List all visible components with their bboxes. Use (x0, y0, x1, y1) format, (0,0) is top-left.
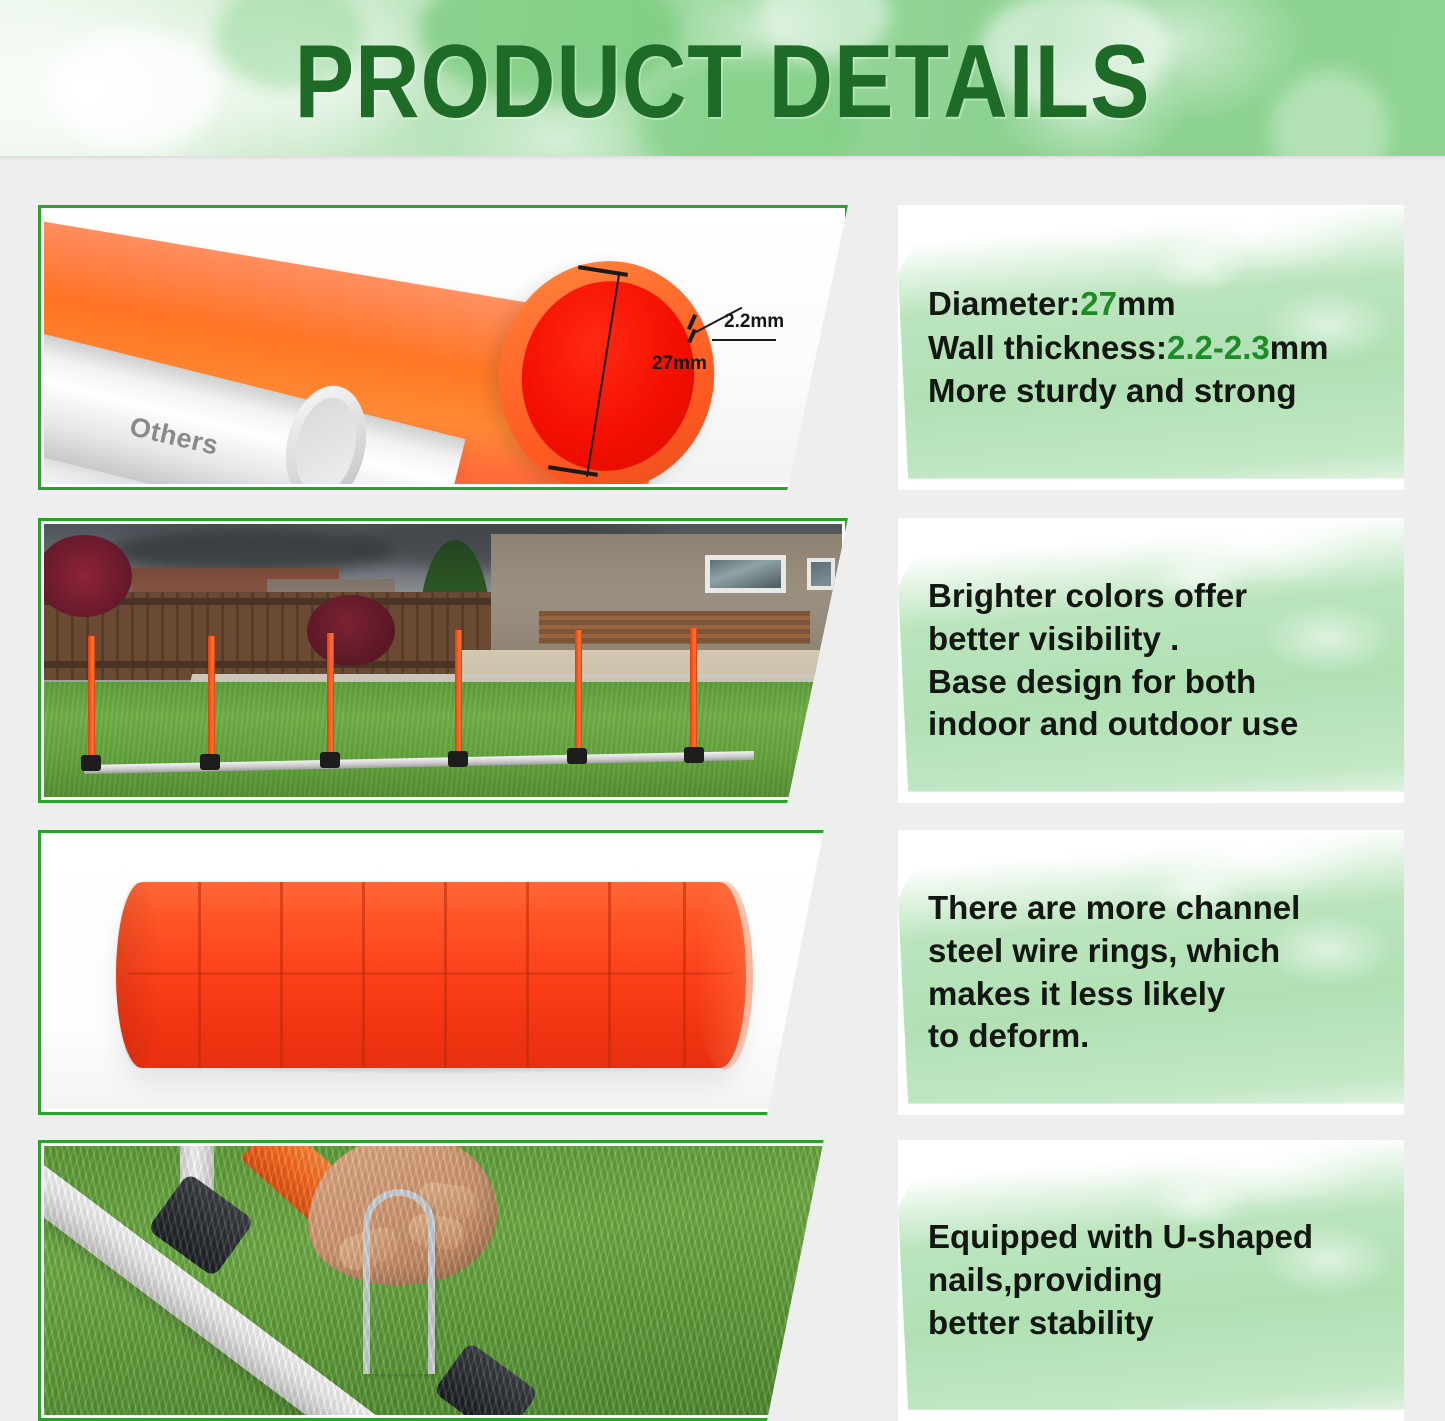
thumb (334, 1223, 403, 1274)
pole-foot (567, 748, 587, 764)
text-segment-highlight: 27 (1080, 285, 1117, 322)
pole-foot (200, 754, 220, 770)
detail-text-body: Equipped with U-shaped nails,providing b… (928, 1140, 1386, 1421)
diameter-value-label: 27mm (652, 353, 707, 375)
text-segment: mm (1117, 285, 1176, 322)
agility-pole (690, 628, 697, 751)
fence-rail (44, 661, 491, 668)
tunnel-rib (280, 882, 283, 1068)
tunnel-rib (444, 882, 447, 1068)
detail-text-card-visibility: Brighter colors offer better visibility … (898, 518, 1404, 803)
detail-text-body: Brighter colors offer better visibility … (928, 518, 1386, 803)
u-shaped-nail (363, 1189, 435, 1374)
u-shaped-nail-photo (38, 1140, 848, 1421)
header-divider (0, 156, 1445, 160)
detail-text-line: makes it less likely (928, 973, 1386, 1016)
detail-row-tunnel: There are more channel steel wire rings,… (0, 830, 1445, 1115)
tunnel-rib (526, 882, 529, 1068)
pipe-connector (147, 1173, 254, 1278)
agility-pole (88, 636, 95, 767)
detail-text-body: There are more channel steel wire rings,… (928, 830, 1386, 1115)
text-segment-highlight: 2.2-2.3 (1167, 329, 1270, 366)
vertical-pipe (180, 1146, 214, 1250)
agility-pole (208, 636, 215, 764)
page-header: PRODUCT DETAILS (0, 0, 1445, 156)
detail-text-line: nails,providing (928, 1259, 1386, 1302)
detail-text-line: Wall thickness:2.2-2.3mm (928, 326, 1386, 370)
detail-text-line: steel wire rings, which (928, 930, 1386, 973)
hand (300, 1146, 505, 1295)
orange-agility-tunnel-photo (38, 830, 848, 1115)
pole-foot (448, 751, 468, 767)
base-rail (44, 1146, 484, 1415)
detail-row-diameter: Others 27mm 2.2mm Diameter:27mm Wal (0, 205, 1445, 490)
tunnel-seam (128, 972, 733, 975)
wall-leader-underline (712, 339, 776, 341)
tunnel-rib (683, 882, 686, 1068)
detail-text-line: to deform. (928, 1015, 1386, 1058)
house-window (705, 555, 786, 593)
tunnel-rib (608, 882, 611, 1068)
detail-row-visibility: Brighter colors offer better visibility … (0, 518, 1445, 803)
pipe-comparison-photo: Others 27mm 2.2mm (38, 205, 848, 490)
agility-pole (327, 633, 334, 761)
agility-pole (575, 630, 582, 753)
agility-pole (455, 630, 462, 761)
text-segment: Diameter: (928, 285, 1080, 322)
tunnel-rib (362, 882, 365, 1068)
agility-tunnel (116, 882, 746, 1068)
detail-text-line: More sturdy and strong (928, 369, 1386, 413)
backyard-agility-poles-photo (38, 518, 848, 803)
text-segment: mm (1270, 329, 1329, 366)
detail-text-line: There are more channel (928, 887, 1386, 930)
finger (415, 1181, 479, 1223)
page-title: PRODUCT DETAILS (101, 28, 1344, 137)
photo-scene (44, 1146, 842, 1415)
detail-text-card-stakes: Equipped with U-shaped nails,providing b… (898, 1140, 1404, 1421)
detail-text-card-tunnel: There are more channel steel wire rings,… (898, 830, 1404, 1115)
detail-text-line: Diameter:27mm (928, 282, 1386, 326)
finger (406, 1211, 467, 1252)
detail-text-line: better stability (928, 1302, 1386, 1345)
detail-text-line: Brighter colors offer (928, 575, 1386, 618)
pole-foot (81, 755, 101, 771)
tunnel-rib (198, 882, 201, 1068)
detail-text-line: better visibility . (928, 618, 1386, 661)
detail-text-line: Equipped with U-shaped (928, 1216, 1386, 1259)
photo-scene (44, 524, 842, 797)
detail-text-line: indoor and outdoor use (928, 703, 1386, 746)
pole-foot (320, 752, 340, 768)
photo-scene (44, 836, 842, 1109)
pole-foot (684, 747, 704, 763)
red-bush (307, 595, 395, 666)
orange-pole-stub (240, 1146, 365, 1237)
detail-row-stakes: Equipped with U-shaped nails,providing b… (0, 1140, 1445, 1421)
wall-thickness-value-label: 2.2mm (724, 311, 784, 333)
detail-text-card-diameter: Diameter:27mm Wall thickness:2.2-2.3mm M… (898, 205, 1404, 490)
detail-text-line: Base design for both (928, 661, 1386, 704)
lawn (44, 682, 842, 797)
house-window (807, 558, 835, 590)
text-segment: Wall thickness: (928, 329, 1167, 366)
detail-text-body: Diameter:27mm Wall thickness:2.2-2.3mm M… (928, 205, 1386, 490)
photo-scene: Others 27mm 2.2mm (44, 211, 842, 484)
pipe-connector (433, 1342, 539, 1415)
